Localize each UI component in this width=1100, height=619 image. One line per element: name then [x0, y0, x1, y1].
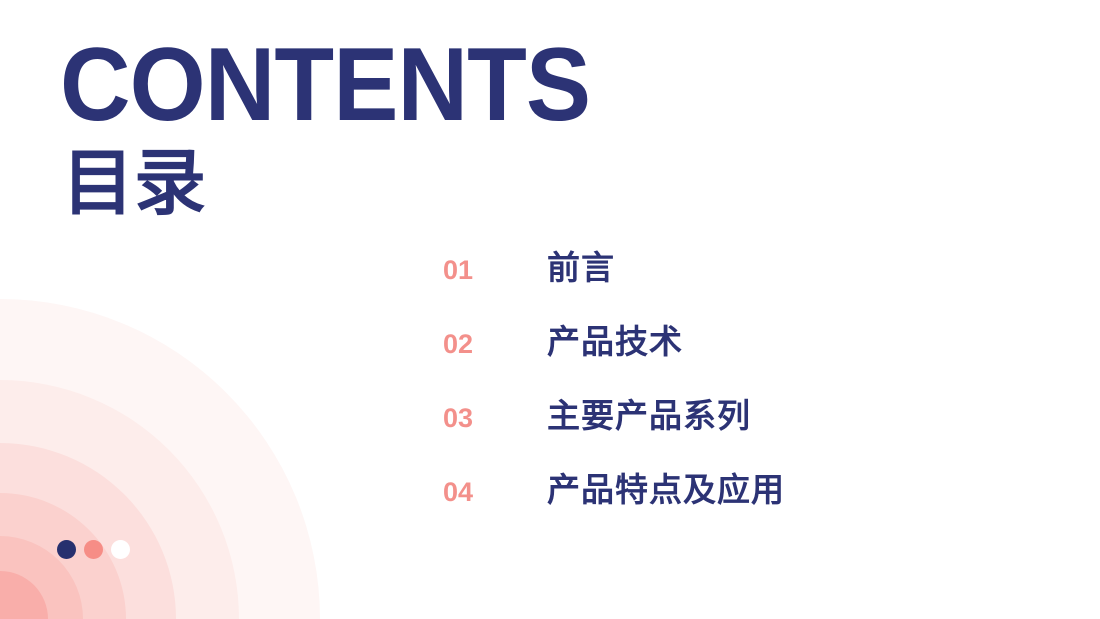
ring-4 — [0, 443, 176, 619]
contents-slide: CONTENTS 目录 01 前言 02 产品技术 03 主要产品系列 04 产… — [0, 0, 1100, 619]
dot-navy — [57, 540, 76, 559]
toc-item-02[interactable]: 02 产品技术 — [443, 315, 963, 389]
ring-inner-1 — [0, 571, 48, 619]
dot-coral — [84, 540, 103, 559]
toc-item-04[interactable]: 04 产品特点及应用 — [443, 463, 963, 537]
dot-indicator-group — [57, 540, 130, 559]
page-title-en: CONTENTS — [60, 36, 590, 135]
toc-number: 01 — [443, 255, 547, 286]
decorative-rings — [0, 279, 340, 619]
toc-label: 产品特点及应用 — [547, 463, 785, 511]
toc-item-03[interactable]: 03 主要产品系列 — [443, 389, 963, 463]
ring-5 — [0, 380, 239, 619]
toc-number: 04 — [443, 477, 547, 508]
table-of-contents: 01 前言 02 产品技术 03 主要产品系列 04 产品特点及应用 — [443, 241, 963, 537]
toc-number: 03 — [443, 403, 547, 434]
toc-label: 产品技术 — [547, 315, 683, 363]
ring-outer-6 — [0, 299, 320, 619]
toc-item-01[interactable]: 01 前言 — [443, 241, 963, 315]
toc-label: 主要产品系列 — [547, 389, 751, 437]
dot-white — [111, 540, 130, 559]
toc-label: 前言 — [547, 241, 615, 289]
slide-heading: CONTENTS 目录 — [60, 36, 624, 217]
page-title-cn: 目录 — [62, 149, 624, 217]
toc-number: 02 — [443, 329, 547, 360]
